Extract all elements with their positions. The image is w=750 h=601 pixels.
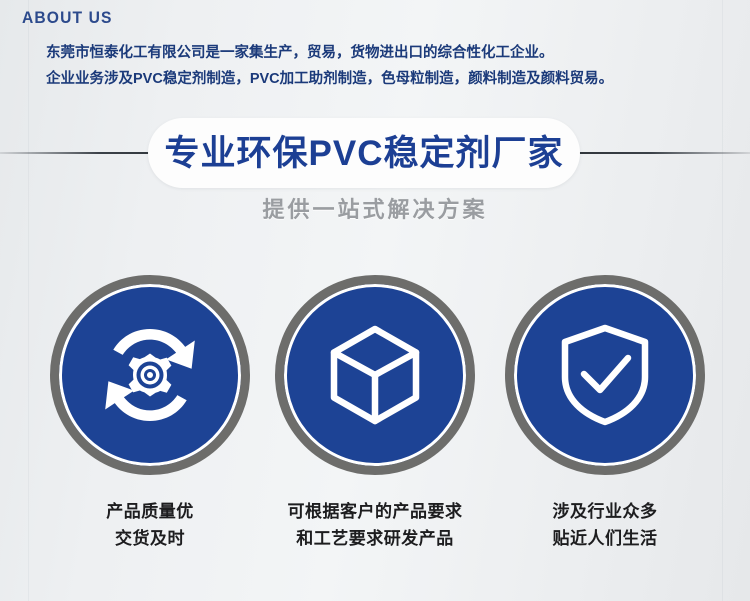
section-subtitle: 提供一站式解决方案 (0, 192, 750, 224)
feature-list: 产品质量优 交货及时 可根据客户的产品 (0, 272, 750, 562)
feature-caption-line-1: 可根据客户的产品要求 (260, 498, 490, 525)
intro-line-2: 企业业务涉及PVC稳定剂制造，PVC加工助剂制造，色母粒制造，颜料制造及颜料贸易… (46, 66, 726, 92)
headline-pill: 专业环保PVC稳定剂厂家 (148, 118, 580, 188)
company-intro: 东莞市恒泰化工有限公司是一家集生产，贸易，货物进出口的综合性化工企业。 企业业务… (46, 40, 726, 92)
headline-rule-right (570, 152, 750, 154)
feature-caption-line-1: 产品质量优 (35, 498, 265, 525)
feature-caption-line-1: 涉及行业众多 (490, 498, 720, 525)
feature-caption-line-2: 和工艺要求研发产品 (260, 525, 490, 552)
feature-caption-line-2: 交货及时 (35, 525, 265, 552)
intro-line-1: 东莞市恒泰化工有限公司是一家集生产，贸易，货物进出口的综合性化工企业。 (46, 40, 726, 66)
feature-caption: 可根据客户的产品要求 和工艺要求研发产品 (260, 498, 490, 552)
feature-icon-circle (50, 275, 250, 475)
feature-caption: 涉及行业众多 贴近人们生活 (490, 498, 720, 552)
hexagon-cube-icon (315, 315, 435, 435)
feature-item-quality: 产品质量优 交货及时 (35, 272, 265, 552)
section-eyebrow: ABOUT US (22, 8, 113, 28)
feature-item-customization: 可根据客户的产品要求 和工艺要求研发产品 (260, 272, 490, 552)
about-us-section: ABOUT US 东莞市恒泰化工有限公司是一家集生产，贸易，货物进出口的综合性化… (0, 0, 750, 601)
feature-caption-line-2: 贴近人们生活 (490, 525, 720, 552)
shield-check-icon (545, 315, 665, 435)
headline-band: 专业环保PVC稳定剂厂家 (0, 118, 750, 190)
feature-caption: 产品质量优 交货及时 (35, 498, 265, 552)
feature-icon-circle (275, 275, 475, 475)
feature-item-industries: 涉及行业众多 贴近人们生活 (490, 272, 720, 552)
page-title: 专业环保PVC稳定剂厂家 (165, 136, 564, 171)
recycle-gear-icon (90, 315, 210, 435)
feature-icon-circle (505, 275, 705, 475)
